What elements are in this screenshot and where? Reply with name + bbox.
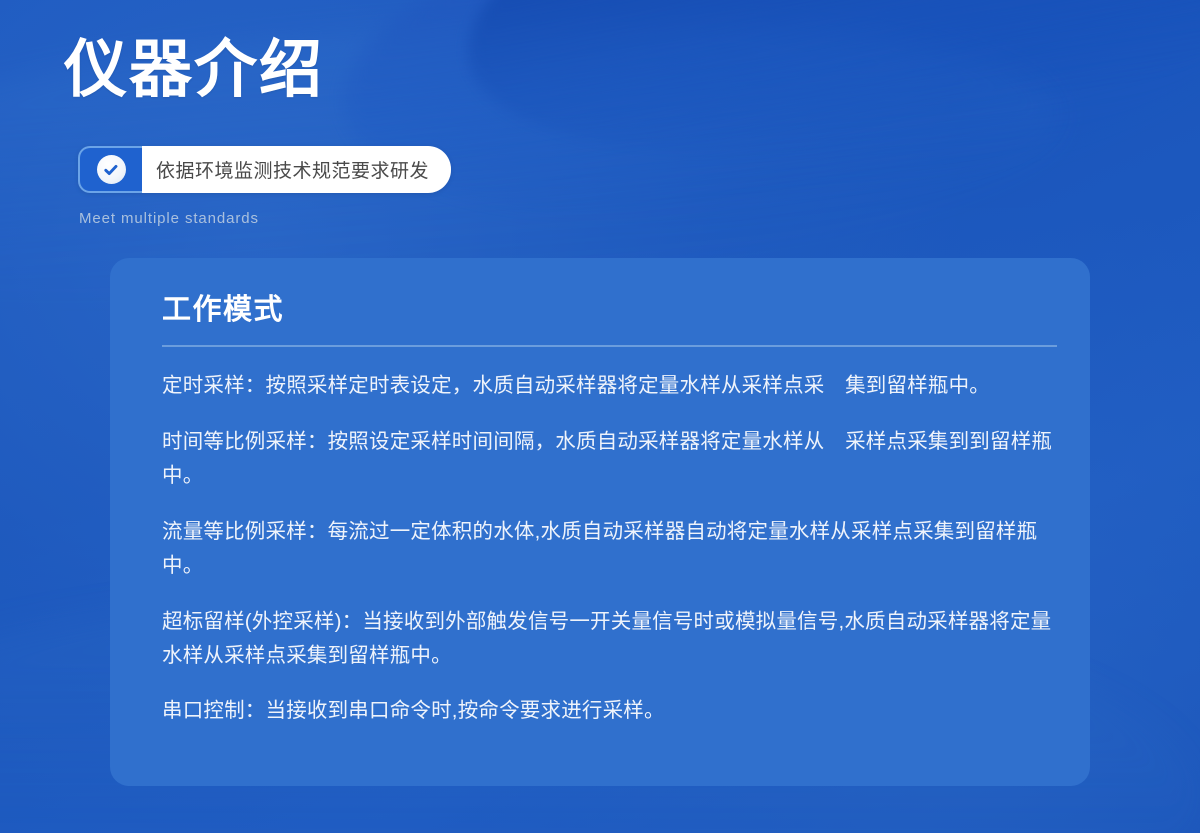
- work-mode-paragraph: 定时采样：按照采样定时表设定，水质自动采样器将定量水样从采样点采 集到留样瓶中。: [162, 369, 1062, 403]
- card-divider: [162, 345, 1057, 347]
- work-mode-paragraph: 超标留样(外控采样)：当接收到外部触发信号一开关量信号时或模拟量信号,水质自动采…: [162, 605, 1062, 674]
- check-circle-icon: [97, 155, 126, 184]
- page-title: 仪器介绍: [64, 38, 764, 102]
- page-root: 仪器介绍 依据环境监测技术规范要求研发 Meet multiple standa…: [0, 0, 1200, 833]
- badge-label: 依据环境监测技术规范要求研发: [156, 156, 429, 183]
- header-block: 仪器介绍: [64, 38, 764, 102]
- work-mode-paragraph: 时间等比例采样：按照设定采样时间间隔，水质自动采样器将定量水样从 采样点采集到到…: [162, 425, 1062, 494]
- work-mode-paragraph-list: 定时采样：按照采样定时表设定，水质自动采样器将定量水样从采样点采 集到留样瓶中。…: [162, 369, 1062, 729]
- work-mode-paragraph: 串口控制：当接收到串口命令时,按命令要求进行采样。: [162, 694, 1062, 728]
- standards-badge: 依据环境监测技术规范要求研发: [78, 146, 451, 193]
- card-title: 工作模式: [162, 294, 1056, 327]
- badge-icon-tab: [78, 146, 142, 193]
- work-mode-paragraph: 流量等比例采样：每流过一定体积的水体,水质自动采样器自动将定量水样从采样点采集到…: [162, 515, 1062, 584]
- page-subtitle: Meet multiple standards: [79, 210, 259, 227]
- badge-text-box: 依据环境监测技术规范要求研发: [142, 146, 451, 193]
- work-mode-card: 工作模式 定时采样：按照采样定时表设定，水质自动采样器将定量水样从采样点采 集到…: [110, 258, 1090, 786]
